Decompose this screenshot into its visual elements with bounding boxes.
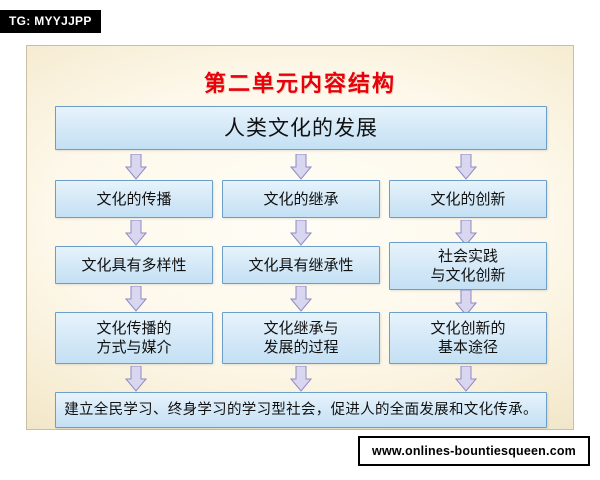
node-spread-1: 文化的传播 <box>55 180 213 218</box>
node-spread-3-label: 文化传播的 方式与媒介 <box>96 319 171 357</box>
arrow-spread-1-2 <box>125 220 147 246</box>
node-innovate-2: 社会实践 与文化创新 <box>389 242 547 290</box>
tg-watermark: TG: MYYJJPP <box>0 10 101 33</box>
node-inherit-1: 文化的继承 <box>222 180 380 218</box>
arrow-head-to-inherit <box>290 154 312 180</box>
node-innovate-1: 文化的创新 <box>389 180 547 218</box>
node-inherit-3: 文化继承与 发展的过程 <box>222 312 380 364</box>
node-spread-3: 文化传播的 方式与媒介 <box>55 312 213 364</box>
node-spread-2-label: 文化具有多样性 <box>81 256 186 275</box>
node-inherit-3-label: 文化继承与 发展的过程 <box>263 319 338 357</box>
node-head: 人类文化的发展 <box>55 106 547 150</box>
arrow-head-to-spread <box>125 154 147 180</box>
node-inherit-2-label: 文化具有继承性 <box>248 256 353 275</box>
site-watermark: www.onlines-bountiesqueen.com <box>358 436 590 466</box>
node-innovate-3-label: 文化创新的 基本途径 <box>430 319 505 357</box>
diagram-poster: 第二单元内容结构 人类文化的发展 文化的传播 文化具有多样性 文化传播的 方式与… <box>26 45 574 430</box>
arrow-innovate-to-footer <box>455 366 477 392</box>
node-innovate-1-label: 文化的创新 <box>430 190 505 209</box>
arrow-head-to-innovate <box>455 154 477 180</box>
node-innovate-3: 文化创新的 基本途径 <box>389 312 547 364</box>
page-title: 第二单元内容结构 <box>27 66 573 98</box>
node-innovate-2-label: 社会实践 与文化创新 <box>430 247 505 285</box>
arrow-inherit-to-footer <box>290 366 312 392</box>
arrow-spread-to-footer <box>125 366 147 392</box>
node-spread-1-label: 文化的传播 <box>96 190 171 209</box>
arrow-inherit-2-3 <box>290 286 312 312</box>
node-spread-2: 文化具有多样性 <box>55 246 213 284</box>
node-inherit-2: 文化具有继承性 <box>222 246 380 284</box>
node-head-label: 人类文化的发展 <box>224 115 378 141</box>
arrow-inherit-1-2 <box>290 220 312 246</box>
node-footer-label: 建立全民学习、终身学习的学习型社会，促进人的全面发展和文化传承。 <box>64 401 538 419</box>
node-inherit-1-label: 文化的继承 <box>263 190 338 209</box>
node-footer: 建立全民学习、终身学习的学习型社会，促进人的全面发展和文化传承。 <box>55 392 547 428</box>
arrow-spread-2-3 <box>125 286 147 312</box>
